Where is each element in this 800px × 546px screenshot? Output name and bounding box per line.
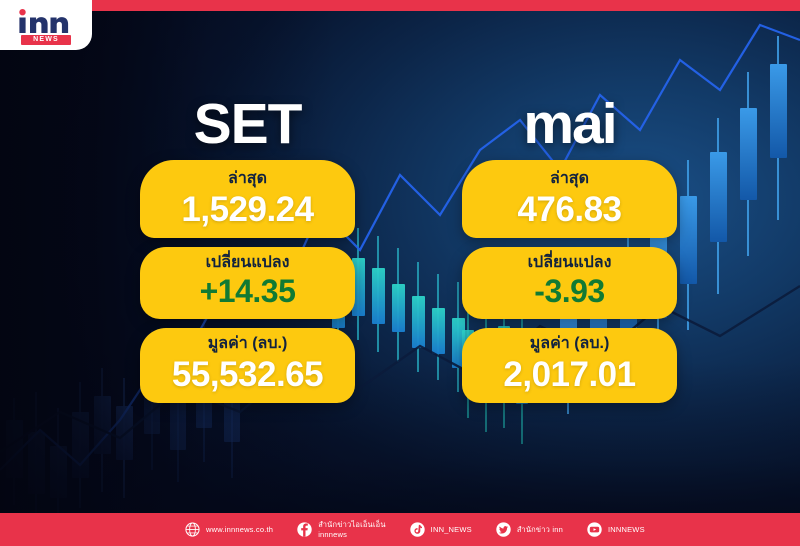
tiktok-icon	[410, 522, 425, 537]
social-footer-bar: www.innnews.co.th สำนักข่าวไอเอ็นเอ็น in…	[0, 513, 800, 546]
index-name-mai: mai	[462, 88, 677, 160]
mai-last-card[interactable]: ล่าสุด 476.83	[462, 160, 677, 238]
footer-tiktok[interactable]: INN_NEWS	[410, 522, 472, 537]
inn-news-logo[interactable]: NEWS	[0, 0, 92, 50]
mai-value-card[interactable]: มูลค่า (ลบ.) 2,017.01	[462, 328, 677, 403]
footer-website[interactable]: www.innnews.co.th	[185, 522, 273, 537]
set-last-label: ล่าสุด	[148, 169, 347, 189]
mai-change-value: -3.93	[470, 274, 669, 310]
footer-facebook-line2: innnews	[318, 530, 385, 539]
twitter-icon	[496, 522, 511, 537]
top-accent-bar	[0, 0, 800, 11]
set-value-card[interactable]: มูลค่า (ลบ.) 55,532.65	[140, 328, 355, 403]
set-last-card[interactable]: ล่าสุด 1,529.24	[140, 160, 355, 238]
youtube-icon	[587, 522, 602, 537]
footer-tiktok-label: INN_NEWS	[431, 525, 472, 534]
index-name-set: SET	[140, 88, 355, 160]
set-change-label: เปลี่ยนแปลง	[148, 253, 347, 273]
mai-change-card[interactable]: เปลี่ยนแปลง -3.93	[462, 247, 677, 319]
logo-news-badge: NEWS	[21, 35, 71, 45]
mai-value-label: มูลค่า (ลบ.)	[470, 334, 669, 354]
facebook-icon	[297, 522, 312, 537]
set-value-value: 55,532.65	[148, 355, 347, 394]
mai-value-value: 2,017.01	[470, 355, 669, 394]
footer-website-label: www.innnews.co.th	[206, 525, 273, 534]
set-last-value: 1,529.24	[148, 190, 347, 229]
globe-icon	[185, 522, 200, 537]
screenshot-canvas: NEWS SET ล่าสุด 1,529.24 เปลี่ยนแปลง +14…	[0, 0, 800, 546]
footer-youtube[interactable]: INNNEWS	[587, 522, 645, 537]
set-value-label: มูลค่า (ลบ.)	[148, 334, 347, 354]
footer-facebook[interactable]: สำนักข่าวไอเอ็นเอ็น innnews	[297, 520, 385, 539]
footer-facebook-line1: สำนักข่าวไอเอ็นเอ็น	[318, 520, 385, 529]
mai-last-value: 476.83	[470, 190, 669, 229]
set-change-value: +14.35	[148, 274, 347, 310]
footer-twitter[interactable]: สำนักข่าว inn	[496, 522, 563, 537]
index-column-set: SET ล่าสุด 1,529.24 เปลี่ยนแปลง +14.35 ม…	[140, 88, 355, 412]
mai-last-label: ล่าสุด	[470, 169, 669, 189]
inn-wordmark-icon	[17, 9, 75, 33]
footer-twitter-label: สำนักข่าว inn	[517, 525, 563, 534]
set-change-card[interactable]: เปลี่ยนแปลง +14.35	[140, 247, 355, 319]
background-vignette	[0, 0, 800, 546]
footer-facebook-label: สำนักข่าวไอเอ็นเอ็น innnews	[318, 520, 385, 539]
mai-change-label: เปลี่ยนแปลง	[470, 253, 669, 273]
index-column-mai: mai ล่าสุด 476.83 เปลี่ยนแปลง -3.93 มูลค…	[462, 88, 677, 412]
footer-youtube-label: INNNEWS	[608, 525, 645, 534]
